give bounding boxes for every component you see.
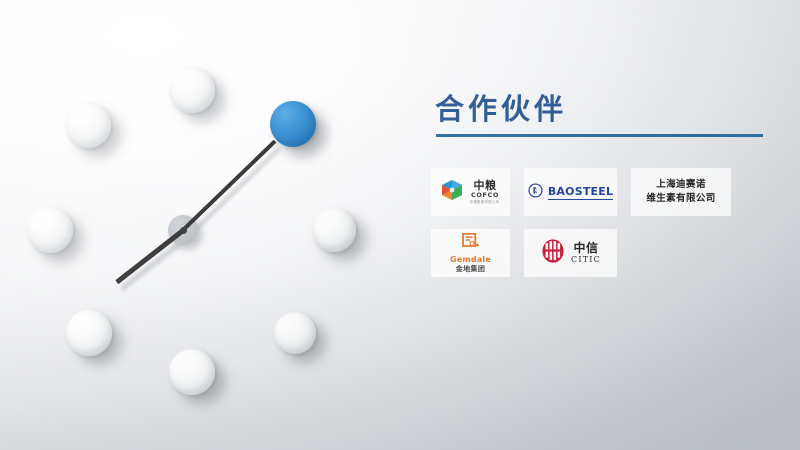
baosteel-name-en: BAOSTEEL [548,185,613,200]
wall-clock-graphic [0,0,400,450]
partner-card-gemdale[interactable]: Gemdale 金地集团 [431,229,510,277]
partner-card-citic[interactable]: 中信 CITIC [524,229,617,277]
cofco-name-en: COFCO [471,192,499,199]
citic-name-cn: 中信 [573,242,598,255]
cofco-cube-icon [440,178,464,206]
disano-name-line1: 上海迪赛诺 [646,178,715,192]
clock-marker-11-icon [65,102,111,148]
clock-marker-9-icon [27,207,73,253]
gemdale-name-en: Gemdale [450,256,491,265]
clock-marker-6-icon [169,349,215,395]
partner-card-baosteel[interactable]: BAOSTEEL [524,168,617,216]
clock-marker-4-icon [274,312,316,354]
partner-card-cofco[interactable]: 中粮 COFCO 中粮集团有限公司 [431,168,510,216]
clock-hour-hand [115,229,184,285]
cofco-name-cn: 中粮 [474,180,497,192]
partners-panel: 合作伙伴 [431,95,771,277]
citic-name-en: CITIC [571,256,601,264]
clock-marker-12-icon [169,67,215,113]
gemdale-square-icon [461,233,480,254]
citic-shield-icon [540,238,566,268]
clock-marker-8-icon [66,310,112,356]
partner-card-disano[interactable]: 上海迪赛诺 维生素有限公司 [631,168,731,216]
disano-name-line2: 维生素有限公司 [646,192,715,206]
title-underline-rule [436,134,763,137]
clock-center-pin [180,227,187,234]
page-title: 合作伙伴 [431,95,771,124]
baosteel-circle-icon [528,183,543,202]
slide-root: 合作伙伴 [0,0,800,450]
clock-marker-1-icon [270,101,316,147]
cofco-tagline: 中粮集团有限公司 [470,201,500,205]
gemdale-name-cn: 金地集团 [456,266,486,274]
clock-minute-hand [182,140,277,232]
clock-minute-hand-shadow [186,146,282,239]
partner-logo-grid: 中粮 COFCO 中粮集团有限公司 BAOS [431,168,771,277]
clock-marker-3-icon [312,208,356,252]
